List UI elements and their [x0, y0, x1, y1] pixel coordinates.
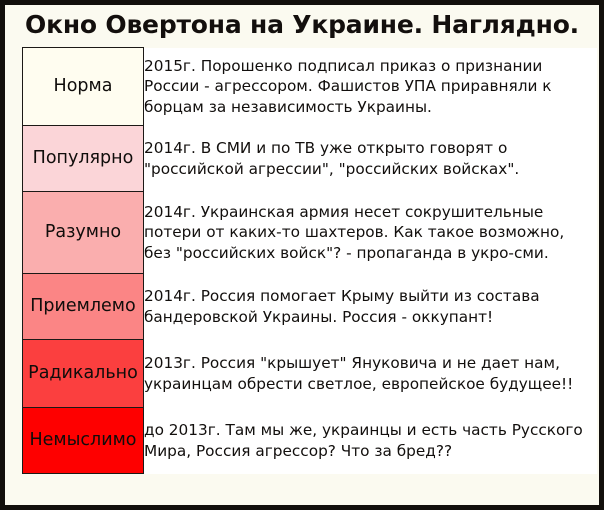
stage-description-text: 2013г. Россия "крышует" Януковича и не д…	[144, 353, 596, 394]
overton-table-body: Норма 2015г. Порошенко подписал приказ о…	[23, 48, 597, 474]
overton-window-poster: Окно Овертона на Украине. Наглядно. Норм…	[0, 0, 604, 510]
overton-table-container: Норма 2015г. Порошенко подписал приказ о…	[5, 43, 599, 480]
stage-label-radikalno: Радикально	[23, 340, 144, 408]
stage-description-text: 2014г. В СМИ и по ТВ уже открыто говорят…	[144, 138, 596, 179]
stage-description-cell: 2014г. Россия помогает Крыму выйти из со…	[144, 274, 597, 340]
stage-description-cell: до 2013г. Там мы же, украинцы и есть час…	[144, 408, 597, 474]
table-row: Радикально 2013г. Россия "крышует" Януко…	[23, 340, 597, 408]
stage-description-text: 2014г. Россия помогает Крыму выйти из со…	[144, 286, 596, 327]
stage-label-populyarno: Популярно	[23, 126, 144, 192]
page-title: Окно Овертона на Украине. Наглядно.	[25, 12, 579, 37]
poster-title-bar: Окно Овертона на Украине. Наглядно.	[5, 5, 599, 43]
stage-description-cell: 2014г. Украинская армия несет сокрушител…	[144, 192, 597, 274]
table-row: Разумно 2014г. Украинская армия несет со…	[23, 192, 597, 274]
table-row: Норма 2015г. Порошенко подписал приказ о…	[23, 48, 597, 126]
overton-stages-table: Норма 2015г. Порошенко подписал приказ о…	[22, 47, 597, 474]
table-row: Приемлемо 2014г. Россия помогает Крыму в…	[23, 274, 597, 340]
stage-description-cell: 2013г. Россия "крышует" Януковича и не д…	[144, 340, 597, 408]
stage-description-text: 2014г. Украинская армия несет сокрушител…	[144, 202, 596, 263]
stage-label-nemyslimo: Немыслимо	[23, 408, 144, 474]
stage-description-cell: 2015г. Порошенко подписал приказ о призн…	[144, 48, 597, 126]
stage-description-text: до 2013г. Там мы же, украинцы и есть час…	[144, 420, 597, 461]
table-row: Популярно 2014г. В СМИ и по ТВ уже откры…	[23, 126, 597, 192]
table-row: Немыслимо до 2013г. Там мы же, украинцы …	[23, 408, 597, 474]
stage-description-cell: 2014г. В СМИ и по ТВ уже открыто говорят…	[144, 126, 597, 192]
stage-label-razumno: Разумно	[23, 192, 144, 274]
stage-label-norma: Норма	[23, 48, 144, 126]
stage-label-priemlemo: Приемлемо	[23, 274, 144, 340]
stage-description-text: 2015г. Порошенко подписал приказ о призн…	[144, 56, 596, 117]
